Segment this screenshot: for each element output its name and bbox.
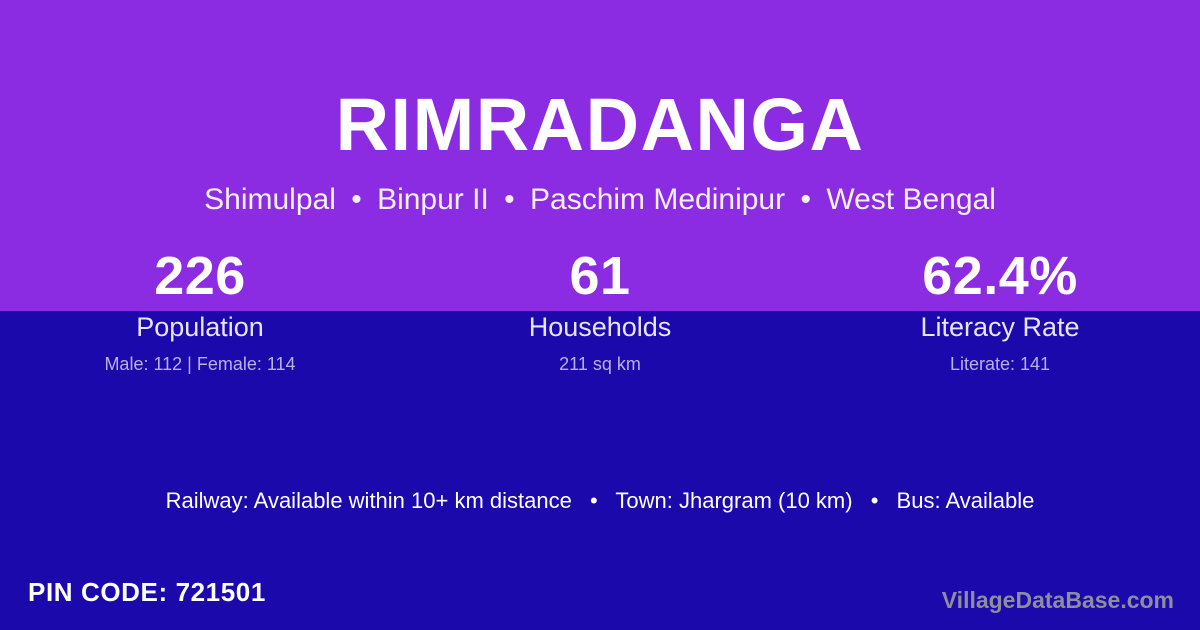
breadcrumb-state: West Bengal	[826, 183, 996, 216]
stat-value: 62.4%	[800, 245, 1200, 307]
stat-households: 61 Households 211 sq km	[400, 245, 800, 375]
stat-detail: Literate: 141	[800, 353, 1200, 375]
breadcrumb-block: Binpur II	[377, 183, 489, 216]
stat-value: 61	[400, 245, 800, 307]
stats-row: 226 Population Male: 112 | Female: 114 6…	[0, 245, 1200, 375]
breadcrumb-separator: •	[344, 183, 369, 216]
stat-value: 226	[0, 245, 400, 307]
connectivity-separator: •	[578, 488, 610, 513]
breadcrumb-district: Paschim Medinipur	[530, 183, 785, 216]
connectivity-summary: Railway: Available within 10+ km distanc…	[0, 486, 1200, 516]
pin-code-label: PIN CODE: 721501	[28, 576, 266, 608]
village-info-card: RIMRADANGA Shimulpal • Binpur II • Pasch…	[0, 0, 1200, 630]
breadcrumb-gram-panchayat: Shimulpal	[204, 183, 336, 216]
stat-detail: Male: 112 | Female: 114	[0, 353, 400, 375]
connectivity-railway: Railway: Available within 10+ km distanc…	[166, 488, 572, 513]
connectivity-separator: •	[859, 488, 891, 513]
stat-detail: 211 sq km	[400, 353, 800, 375]
connectivity-town: Town: Jhargram (10 km)	[615, 488, 852, 513]
site-watermark: VillageDataBase.com	[942, 586, 1174, 614]
stat-label: Literacy Rate	[800, 311, 1200, 343]
stat-label: Population	[0, 311, 400, 343]
stat-literacy-rate: 62.4% Literacy Rate Literate: 141	[800, 245, 1200, 375]
connectivity-bus: Bus: Available	[897, 488, 1035, 513]
breadcrumb-separator: •	[497, 183, 522, 216]
breadcrumb: Shimulpal • Binpur II • Paschim Medinipu…	[0, 180, 1200, 220]
breadcrumb-separator: •	[793, 183, 818, 216]
stat-label: Households	[400, 311, 800, 343]
page-title: RIMRADANGA	[0, 82, 1200, 168]
stat-population: 226 Population Male: 112 | Female: 114	[0, 245, 400, 375]
